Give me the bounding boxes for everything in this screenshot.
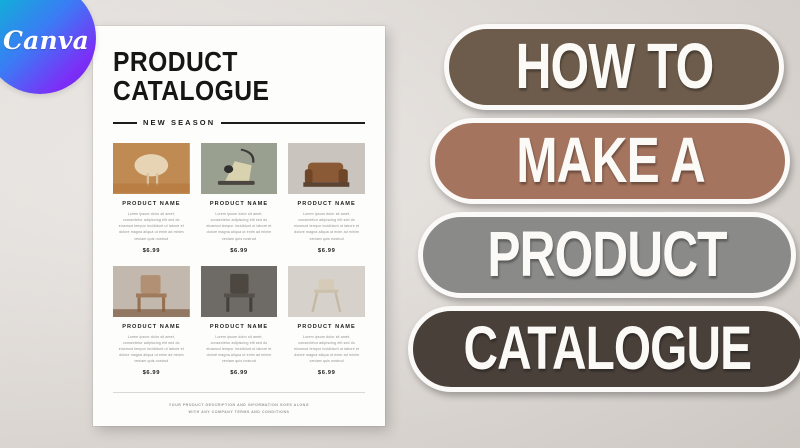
product-description: Lorem ipsum dolor sit amet, consectetur … (118, 211, 184, 242)
product-card[interactable]: PRODUCT NAMELorem ipsum dolor sit amet, … (113, 266, 190, 377)
product-photo (201, 266, 278, 317)
product-description: Lorem ipsum dolor sit amet, consectetur … (206, 211, 272, 242)
product-name: PRODUCT NAME (298, 324, 356, 330)
title-pill-stack: HOW TOMAKE APRODUCTCATALOGUE (408, 24, 800, 428)
product-card[interactable]: PRODUCT NAMELorem ipsum dolor sit amet, … (201, 143, 278, 254)
catalogue-subtitle-row: NEW SEASON (113, 118, 365, 127)
product-photo (113, 143, 190, 194)
product-price: $6.99 (230, 248, 248, 254)
product-price: $6.99 (230, 370, 248, 376)
divider-right (221, 122, 365, 124)
catalogue-title-line1: PRODUCT (113, 46, 238, 77)
product-grid: PRODUCT NAMELorem ipsum dolor sit amet, … (113, 143, 365, 376)
product-price: $6.99 (143, 370, 161, 376)
product-description: Lorem ipsum dolor sit amet, consectetur … (118, 334, 184, 365)
catalogue-footer: YOUR PRODUCT DESCRIPTION AND INFORMATION… (113, 392, 365, 426)
title-pill-label: HOW TO (515, 35, 713, 99)
product-photo (113, 266, 190, 317)
product-price: $6.99 (318, 370, 336, 376)
footer-line-1: YOUR PRODUCT DESCRIPTION AND INFORMATION… (113, 402, 365, 409)
product-photo (201, 143, 278, 194)
title-pill-product: PRODUCT (418, 212, 796, 298)
product-card[interactable]: PRODUCT NAMELorem ipsum dolor sit amet, … (288, 143, 365, 254)
product-photo (288, 143, 365, 194)
catalogue-title-line2: CATALOGUE (113, 77, 335, 106)
title-pill-make-a: MAKE A (430, 118, 790, 204)
product-description: Lorem ipsum dolor sit amet, consectetur … (206, 334, 272, 365)
product-name: PRODUCT NAME (210, 324, 268, 330)
product-card[interactable]: PRODUCT NAMELorem ipsum dolor sit amet, … (113, 143, 190, 254)
product-name: PRODUCT NAME (122, 201, 180, 207)
product-card[interactable]: PRODUCT NAMELorem ipsum dolor sit amet, … (288, 266, 365, 377)
canva-logo-text: Canva (3, 26, 89, 55)
product-photo (288, 266, 365, 317)
product-description: Lorem ipsum dolor sit amet, consectetur … (294, 334, 360, 365)
product-price: $6.99 (143, 248, 161, 254)
canva-logo[interactable]: Canva (0, 0, 96, 94)
title-pill-label: MAKE A (516, 129, 705, 193)
title-pill-label: PRODUCT (487, 223, 726, 287)
product-card[interactable]: PRODUCT NAMELorem ipsum dolor sit amet, … (201, 266, 278, 377)
catalogue-subtitle: NEW SEASON (143, 118, 215, 127)
product-name: PRODUCT NAME (210, 201, 268, 207)
product-name: PRODUCT NAME (298, 201, 356, 207)
catalogue-title: PRODUCT CATALOGUE (113, 48, 335, 105)
product-price: $6.99 (318, 248, 336, 254)
footer-line-2: WITH ANY COMPANY TERMS AND CONDITIONS (113, 409, 365, 416)
title-pill-how-to: HOW TO (444, 24, 784, 110)
catalogue-page-preview[interactable]: PRODUCT CATALOGUE NEW SEASON PRODUCT NAM… (93, 26, 385, 426)
product-description: Lorem ipsum dolor sit amet, consectetur … (294, 211, 360, 242)
divider-left (113, 122, 137, 124)
product-name: PRODUCT NAME (122, 324, 180, 330)
title-pill-label: CATALOGUE (463, 318, 751, 379)
title-pill-catalogue: CATALOGUE (408, 306, 800, 392)
